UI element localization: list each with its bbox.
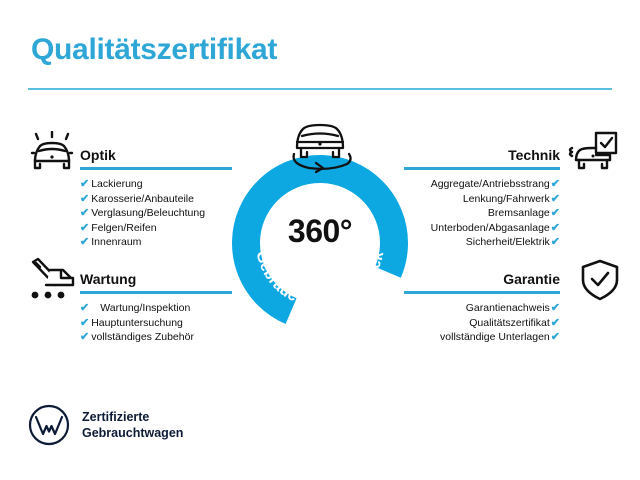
list-item-label: vollständiges Zubehör bbox=[91, 331, 194, 343]
check-icon: ✔ bbox=[551, 193, 560, 205]
certificate-page: Qualitätszertifikat Optik ✔Lackierung ✔K… bbox=[0, 0, 640, 480]
section-garantie: Garantie Garantienachweis✔ Qualitätszert… bbox=[404, 270, 560, 361]
section-wartung: Wartung ✔Wartung/Inspektion ✔Hauptunters… bbox=[80, 270, 232, 361]
list-item-label: Wartung/Inspektion bbox=[100, 302, 190, 314]
check-icon: ✔ bbox=[80, 317, 89, 329]
check-icon: ✔ bbox=[551, 236, 560, 248]
list-item: ✔Karosserie/Anbauteile bbox=[80, 192, 232, 207]
list-item: ✔Hauptuntersuchung bbox=[80, 316, 232, 331]
list-item-label: Unterboden/Abgasanlage bbox=[431, 222, 550, 234]
volkswagen-logo bbox=[28, 404, 70, 446]
section-rule-garantie bbox=[404, 291, 560, 294]
car-headlights-icon bbox=[26, 131, 78, 175]
check-icon: ✔ bbox=[80, 207, 89, 219]
list-item-label: Verglasung/Beleuchtung bbox=[91, 207, 205, 219]
list-item: ✔Lackierung bbox=[80, 177, 232, 192]
shield-check-icon bbox=[574, 258, 626, 302]
section-optik: Optik ✔Lackierung ✔Karosserie/Anbauteile… bbox=[80, 146, 232, 266]
list-item: Aggregate/Antriebsstrang✔ bbox=[404, 177, 560, 192]
list-item: Unterboden/Abgasanlage✔ bbox=[404, 221, 560, 236]
list-item: ✔Felgen/Reifen bbox=[80, 221, 232, 236]
page-title: Qualitätszertifikat bbox=[31, 33, 277, 67]
section-heading-optik: Optik bbox=[80, 146, 232, 164]
check-icon: ✔ bbox=[551, 207, 560, 219]
check-icon: ✔ bbox=[551, 331, 560, 343]
list-item: Sicherheit/Elektrik✔ bbox=[404, 235, 560, 250]
section-heading-technik: Technik bbox=[404, 146, 560, 164]
check-icon: ✔ bbox=[80, 178, 89, 190]
section-rule-optik bbox=[80, 167, 232, 170]
check-icon: ✔ bbox=[551, 317, 560, 329]
section-rule-wartung bbox=[80, 291, 232, 294]
check-icon: ✔ bbox=[80, 236, 89, 248]
list-item-label: Hauptuntersuchung bbox=[91, 317, 183, 329]
list-item: Bremsanlage✔ bbox=[404, 206, 560, 221]
list-item-label: Qualitätszertifikat bbox=[469, 317, 550, 329]
list-item: ✔Wartung/Inspektion bbox=[80, 301, 232, 316]
car-rotate-icon bbox=[283, 120, 357, 176]
list-item-label: Sicherheit/Elektrik bbox=[466, 236, 550, 248]
list-item: Lenkung/Fahrwerk✔ bbox=[404, 192, 560, 207]
checklist-optik: ✔Lackierung ✔Karosserie/Anbauteile ✔Verg… bbox=[80, 177, 232, 250]
checklist-garantie: Garantienachweis✔ Qualitätszertifikat✔ v… bbox=[404, 301, 560, 345]
list-item: vollständige Unterlagen✔ bbox=[404, 330, 560, 345]
badge-degrees-label: 360° bbox=[232, 213, 408, 250]
list-item-label: Karosserie/Anbauteile bbox=[91, 193, 194, 205]
footer-line-1: Zertifizierte bbox=[82, 409, 183, 425]
list-item-label: Felgen/Reifen bbox=[91, 222, 156, 234]
list-item: Garantienachweis✔ bbox=[404, 301, 560, 316]
check-icon: ✔ bbox=[80, 193, 89, 205]
list-item-label: Innenraum bbox=[91, 236, 141, 248]
title-divider bbox=[28, 88, 612, 90]
check-icon: ✔ bbox=[80, 302, 89, 314]
section-technik: Technik Aggregate/Antriebsstrang✔ Lenkun… bbox=[404, 146, 560, 266]
footer: Zertifizierte Gebrauchtwagen bbox=[28, 404, 183, 446]
check-icon: ✔ bbox=[80, 222, 89, 234]
list-item-label: Lackierung bbox=[91, 178, 142, 190]
check-icon: ✔ bbox=[551, 222, 560, 234]
section-rule-technik bbox=[404, 167, 560, 170]
checklist-technik: Aggregate/Antriebsstrang✔ Lenkung/Fahrwe… bbox=[404, 177, 560, 250]
check-icon: ✔ bbox=[551, 302, 560, 314]
list-item-label: vollständige Unterlagen bbox=[440, 331, 550, 343]
list-item: ✔Innenraum bbox=[80, 235, 232, 250]
list-item-label: Lenkung/Fahrwerk bbox=[463, 193, 550, 205]
list-item-label: Garantienachweis bbox=[466, 302, 550, 314]
check-icon: ✔ bbox=[551, 178, 560, 190]
list-item: ✔vollständiges Zubehör bbox=[80, 330, 232, 345]
footer-label: Zertifizierte Gebrauchtwagen bbox=[82, 409, 183, 441]
list-item: ✔Verglasung/Beleuchtung bbox=[80, 206, 232, 221]
list-item: Qualitätszertifikat✔ bbox=[404, 316, 560, 331]
check-icon: ✔ bbox=[80, 331, 89, 343]
checklist-wartung: ✔Wartung/Inspektion ✔Hauptuntersuchung ✔… bbox=[80, 301, 232, 345]
section-heading-garantie: Garantie bbox=[404, 270, 560, 288]
car-checkbox-icon bbox=[566, 131, 618, 175]
list-item-label: Aggregate/Antriebsstrang bbox=[431, 178, 550, 190]
footer-line-2: Gebrauchtwagen bbox=[82, 425, 183, 441]
section-heading-wartung: Wartung bbox=[80, 270, 232, 288]
wrench-car-icon bbox=[26, 257, 78, 301]
list-item-label: Bremsanlage bbox=[488, 207, 550, 219]
